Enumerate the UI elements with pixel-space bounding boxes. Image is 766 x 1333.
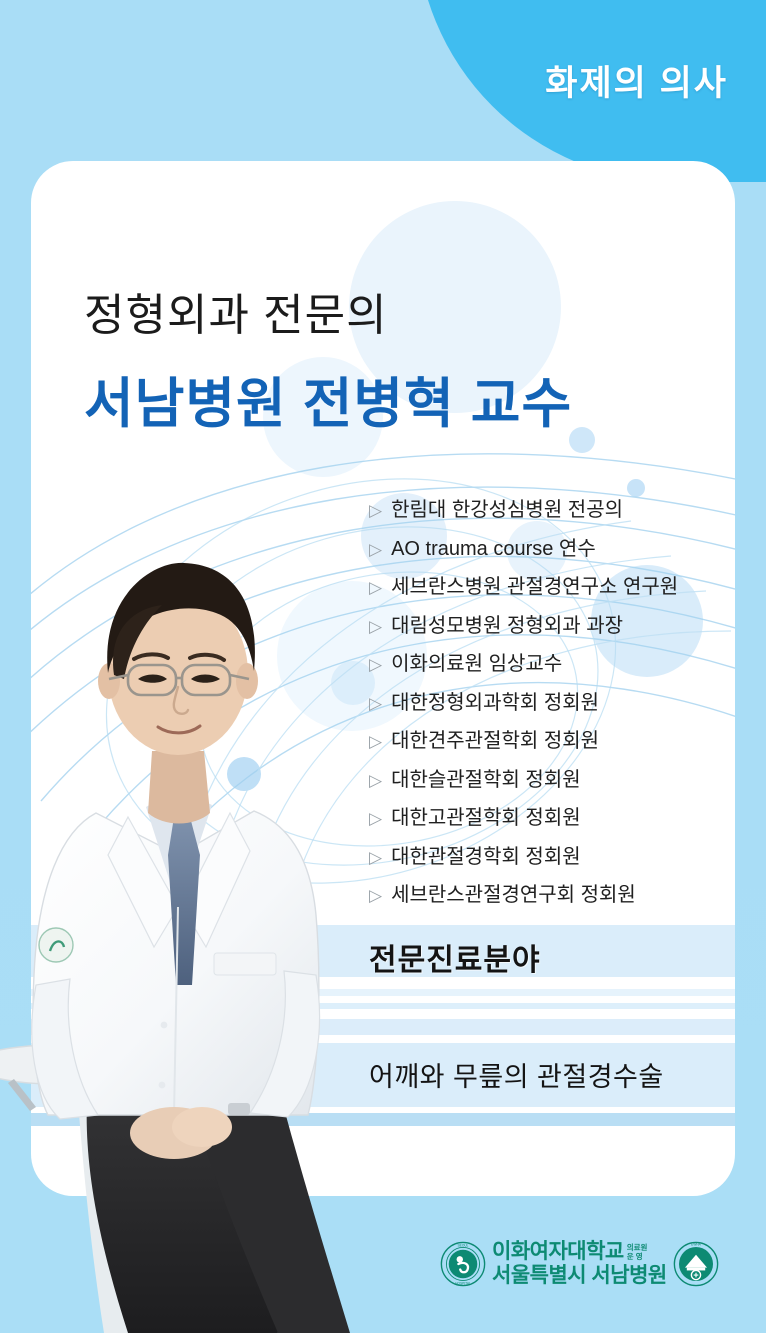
- logo-superscript-line-2: 운 영: [627, 1252, 648, 1261]
- white-coat-shape: [32, 798, 320, 1159]
- poster-root: 화제의 의사: [0, 0, 766, 1333]
- credential-text: 세브란스관절경연구회 정회원: [391, 878, 636, 907]
- list-item: ▷대한견주관절학회 정회원: [369, 724, 729, 753]
- header-badge-label: 화제의 의사: [545, 55, 728, 106]
- credential-text: 대한관절경학회 정회원: [391, 840, 581, 869]
- logo-superscript-line-1: 의료원: [627, 1243, 648, 1252]
- page-title: 서남병원 전병혁 교수: [84, 359, 572, 438]
- list-item: ▷대한관절경학회 정회원: [369, 840, 729, 869]
- seoul-nam-hospital-seal-icon: EWHA: [673, 1241, 719, 1287]
- credentials-list: ▷한림대 한강성심병원 전공의 ▷AO trauma course 연수 ▷세브…: [369, 493, 729, 917]
- logo-line-1-row: 이화여자대학교 의료원 운 영: [492, 1240, 667, 1264]
- hospital-logo: SEOUL HOSPITAL 이화여자대학교 의료원 운 영 서울특별시 서남병…: [440, 1240, 719, 1287]
- logo-line-1: 이화여자대학교: [492, 1240, 624, 1264]
- credential-text: AO trauma course 연수: [391, 532, 596, 561]
- list-item: ▷한림대 한강성심병원 전공의: [369, 493, 729, 522]
- list-item: ▷대한정형외과학회 정회원: [369, 686, 729, 715]
- triangle-bullet-icon: ▷: [369, 502, 382, 519]
- credential-text: 대한슬관절학회 정회원: [391, 763, 581, 792]
- credential-text: 대림성모병원 정형외과 과장: [391, 609, 623, 638]
- credential-text: 한림대 한강성심병원 전공의: [391, 493, 623, 522]
- credential-text: 이화의료원 임상교수: [391, 647, 562, 676]
- list-item: ▷대한고관절학회 정회원: [369, 801, 729, 830]
- credential-text: 대한정형외과학회 정회원: [391, 686, 599, 715]
- svg-text:HOSPITAL: HOSPITAL: [455, 1281, 471, 1285]
- credential-text: 대한견주관절학회 정회원: [391, 724, 599, 753]
- logo-line-2: 서울특별시 서남병원: [492, 1264, 667, 1288]
- page-subtitle: 정형외과 전문의: [84, 279, 388, 343]
- list-item: ▷세브란스병원 관절경연구소 연구원: [369, 570, 729, 599]
- list-item: ▷이화의료원 임상교수: [369, 647, 729, 676]
- face-shape: [98, 563, 258, 755]
- list-item: ▷대림성모병원 정형외과 과장: [369, 609, 729, 638]
- list-item: ▷세브란스관절경연구회 정회원: [369, 878, 729, 907]
- list-item: ▷대한슬관절학회 정회원: [369, 763, 729, 792]
- doctor-photo: [0, 555, 398, 1333]
- credential-text: 세브란스병원 관절경연구소 연구원: [391, 570, 678, 599]
- svg-text:EWHA: EWHA: [691, 1242, 702, 1246]
- logo-superscript: 의료원 운 영: [627, 1243, 648, 1264]
- logo-text-block: 이화여자대학교 의료원 운 영 서울특별시 서남병원: [492, 1240, 667, 1287]
- list-item: ▷AO trauma course 연수: [369, 532, 729, 561]
- specialty-text: 어깨와 무릎의 관절경수술: [369, 1055, 664, 1094]
- svg-text:SEOUL: SEOUL: [458, 1243, 469, 1247]
- credential-text: 대한고관절학회 정회원: [391, 801, 581, 830]
- ewha-medical-center-seal-icon: SEOUL HOSPITAL: [440, 1241, 486, 1287]
